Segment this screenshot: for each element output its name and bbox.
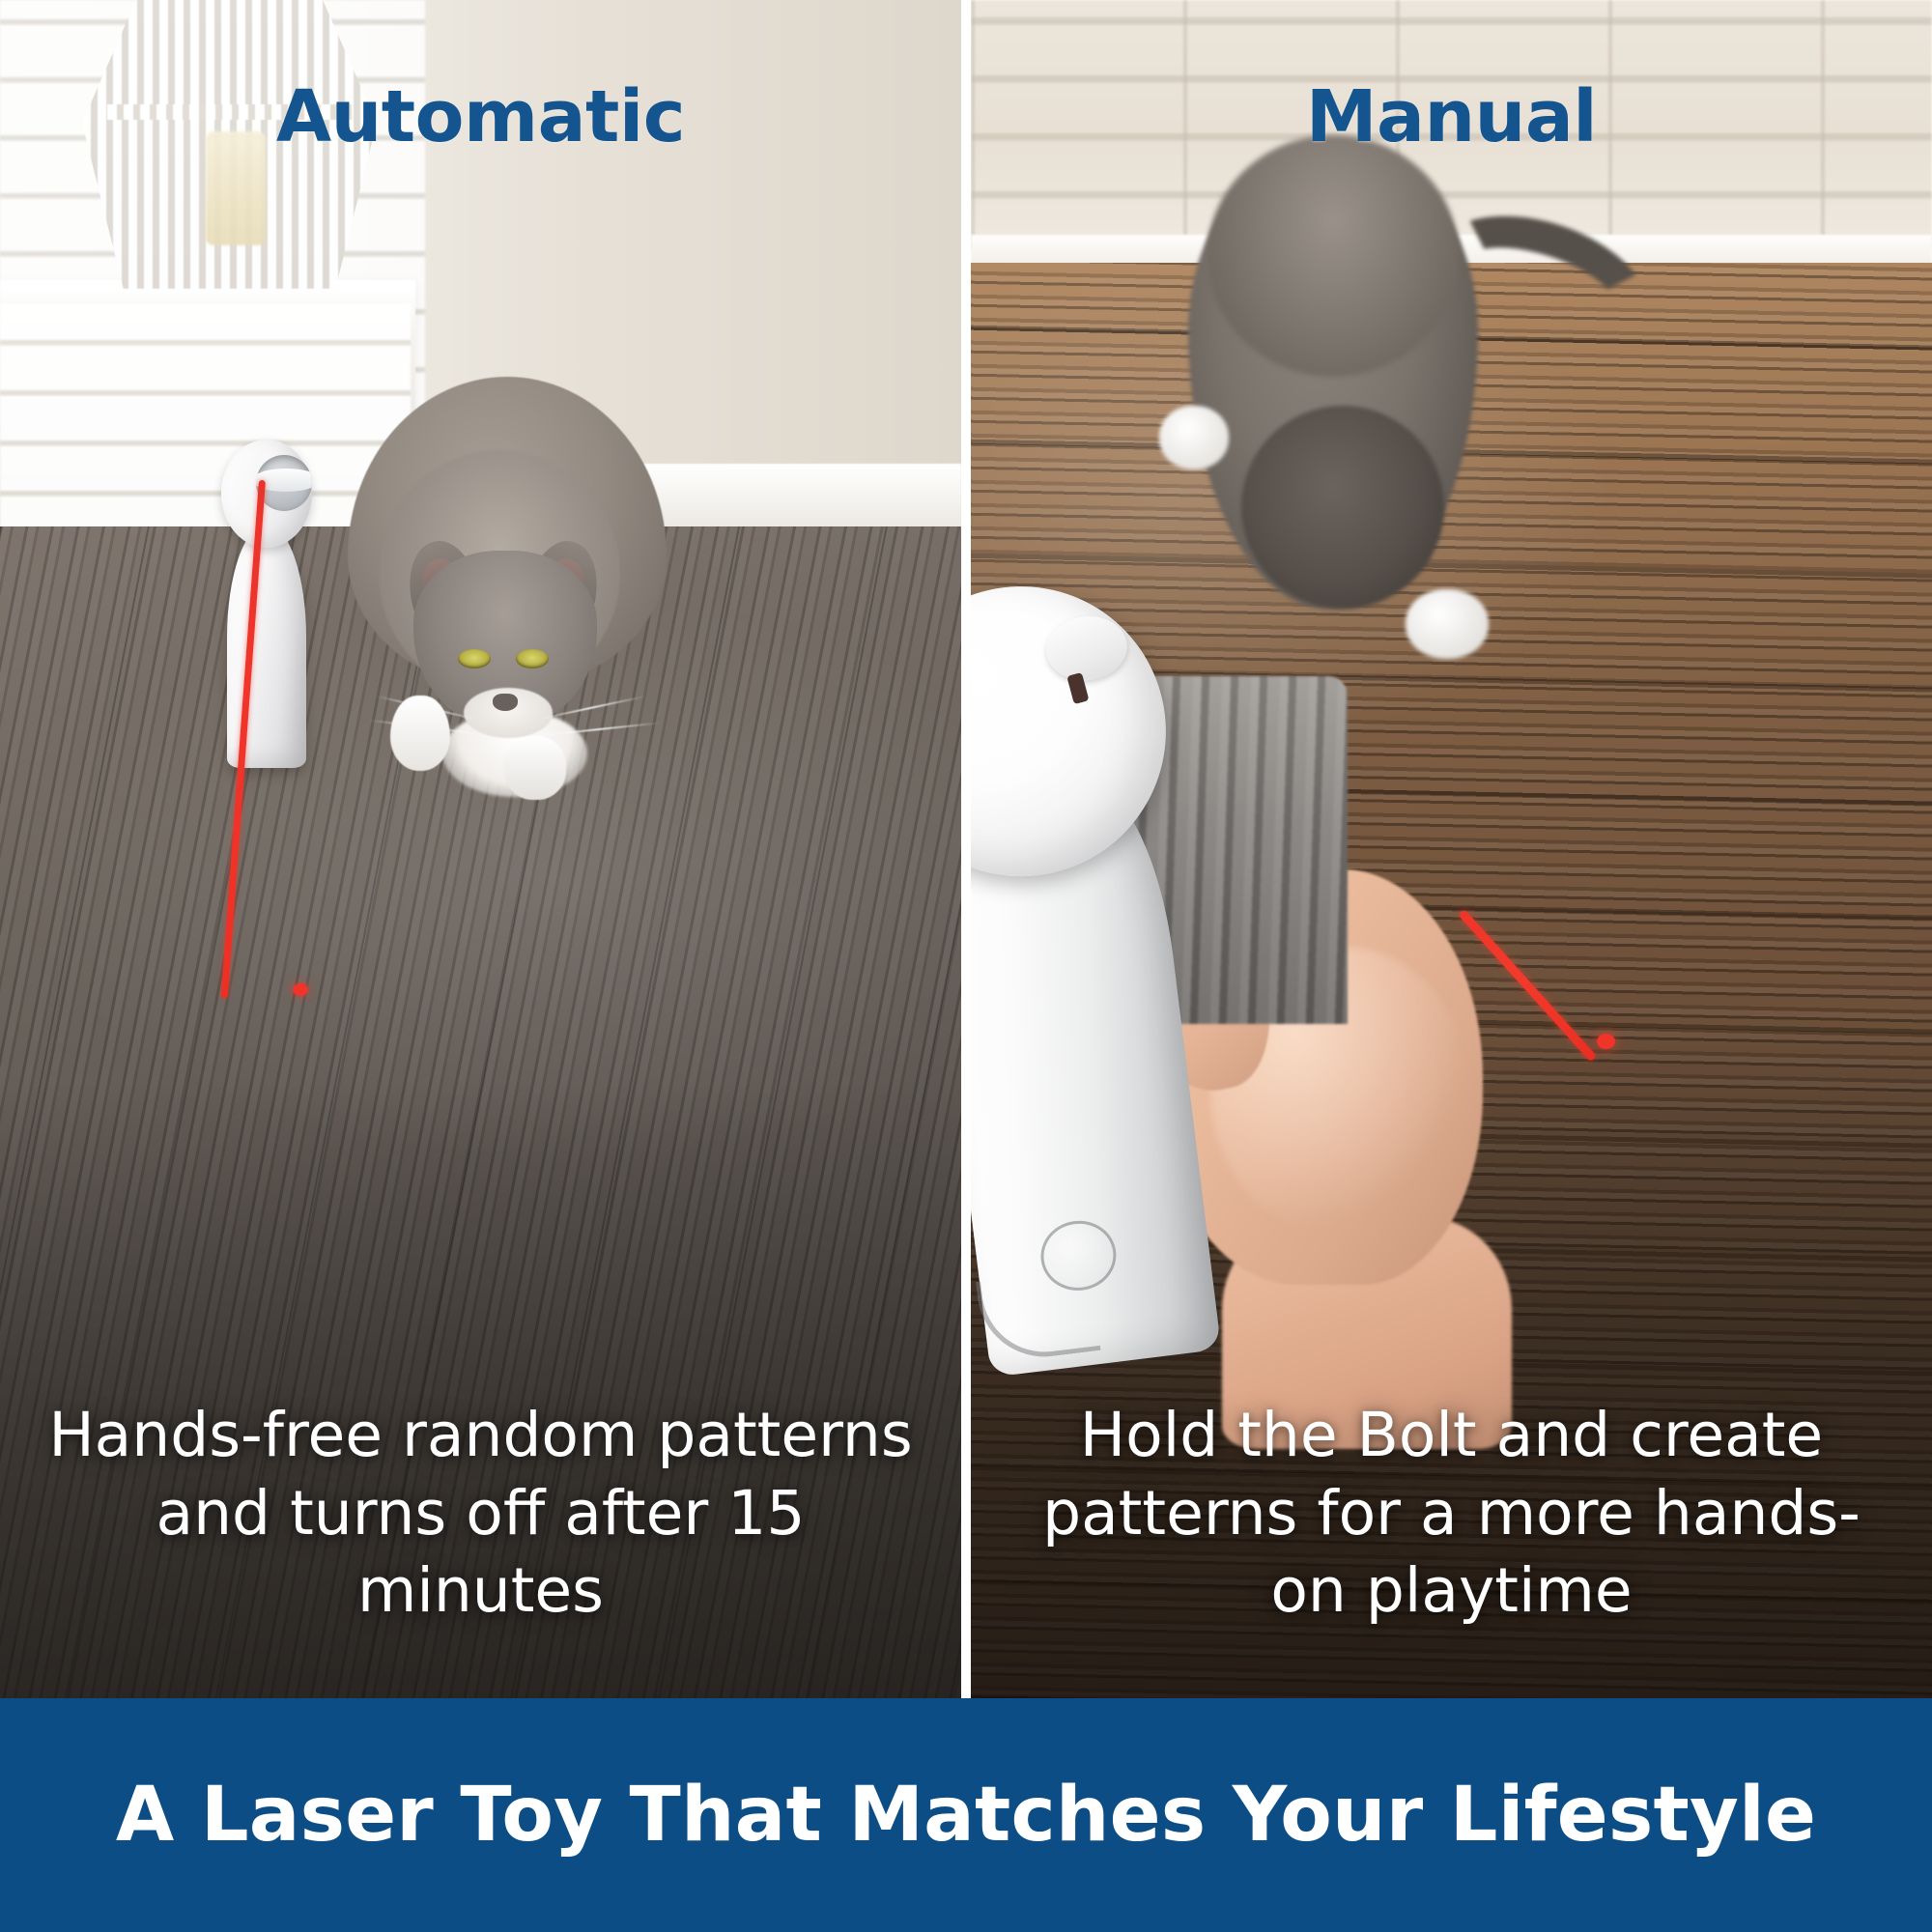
cat-automatic-panel	[319, 367, 744, 802]
cat-eye-left	[458, 649, 491, 668]
cat-rump	[1207, 135, 1459, 377]
cat-paw-left	[1159, 406, 1229, 469]
rattan-lantern	[82, 0, 377, 319]
laser-dot-manual	[1597, 1034, 1615, 1049]
bottom-banner: A Laser Toy That Matches Your Lifestyle	[0, 1698, 1932, 1932]
cat-head	[1241, 406, 1444, 609]
cat-paw-right	[1406, 589, 1489, 659]
automatic-laser-device	[213, 440, 320, 768]
cat-paw-front-right	[504, 736, 566, 800]
panel-heading-automatic: Automatic	[0, 75, 961, 158]
product-comparison-graphic: Automatic Hands-free random patterns and…	[0, 0, 1932, 1932]
panel-automatic: Automatic Hands-free random patterns and…	[0, 0, 961, 1698]
panel-heading-manual: Manual	[971, 75, 1932, 158]
cat-eye-right	[516, 649, 549, 668]
cat-paw-front-left	[390, 696, 450, 771]
panel-manual: Manual Hold the Bolt and create patterns…	[971, 0, 1932, 1698]
laser-dot-automatic	[293, 983, 308, 996]
cat-nose	[493, 694, 518, 711]
device-head	[221, 440, 312, 548]
banner-tagline: A Laser Toy That Matches Your Lifestyle	[116, 1772, 1816, 1859]
panel-caption-automatic: Hands-free random patterns and turns off…	[35, 1397, 926, 1631]
panel-divider	[961, 0, 971, 1698]
panel-caption-manual: Hold the Bolt and create patterns for a …	[1006, 1397, 1897, 1631]
device-body	[227, 525, 306, 768]
